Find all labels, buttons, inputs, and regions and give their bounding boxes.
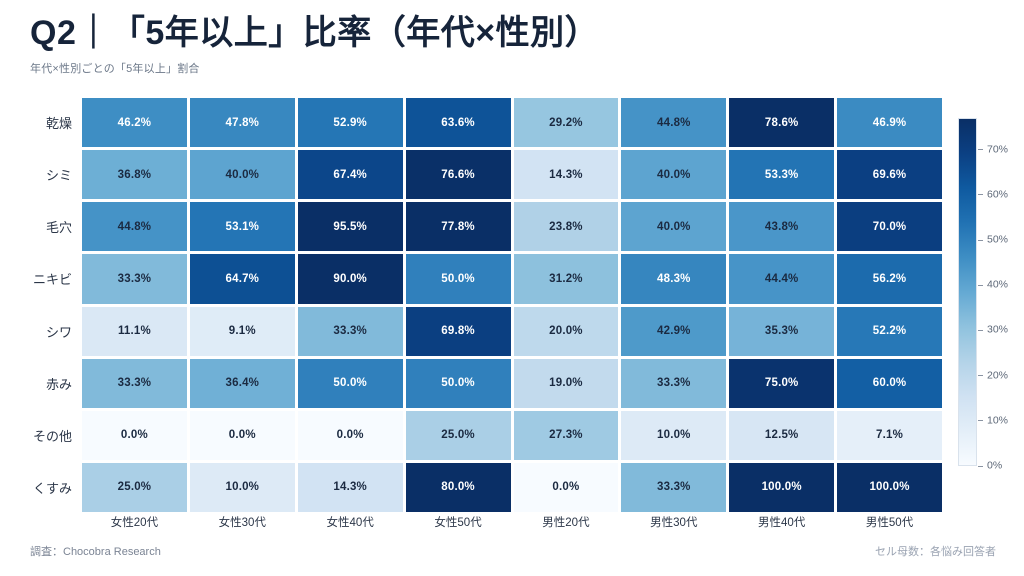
x-axis-label: 女性40代	[298, 514, 403, 530]
heatmap-cell: 43.8%	[729, 202, 834, 251]
page-title: Q2｜「5年以上」比率（年代×性別）	[30, 14, 990, 53]
heatmap-chart: 乾燥シミ毛穴ニキビシワ赤みその他くすみ 46.2%47.8%52.9%63.6%…	[30, 98, 942, 512]
heatmap-cell: 70.0%	[837, 202, 942, 251]
colorbar-tick-label: 70%	[987, 143, 1008, 155]
header: Q2｜「5年以上」比率（年代×性別） 年代×性別ごとの「5年以上」割合	[30, 14, 990, 76]
colorbar-tick-mark	[978, 466, 983, 467]
x-axis-label: 男性20代	[514, 514, 619, 530]
y-axis-label: ニキビ	[30, 254, 80, 303]
heatmap-cell: 50.0%	[406, 359, 511, 408]
heatmap-cell: 69.8%	[406, 307, 511, 356]
heatmap-cell: 100.0%	[837, 463, 942, 512]
heatmap-cell: 44.4%	[729, 254, 834, 303]
heatmap-cell: 33.3%	[82, 359, 187, 408]
y-axis-label: シミ	[30, 150, 80, 199]
colorbar-tick-mark	[978, 375, 983, 376]
heatmap-cell: 33.3%	[621, 359, 726, 408]
heatmap-cell: 95.5%	[298, 202, 403, 251]
y-axis-label: 赤み	[30, 359, 80, 408]
colorbar-legend: 70%60%50%40%30%20%10%0%	[958, 118, 1020, 468]
heatmap-cell: 100.0%	[729, 463, 834, 512]
heatmap-cell: 40.0%	[621, 150, 726, 199]
heatmap-cell: 75.0%	[729, 359, 834, 408]
colorbar-tick-mark	[978, 240, 983, 241]
footer-note: セル母数：各悩み回答者	[875, 543, 996, 559]
heatmap-cell: 52.2%	[837, 307, 942, 356]
colorbar-tick-mark	[978, 149, 983, 150]
y-axis-label: その他	[30, 411, 80, 460]
heatmap-cell: 69.6%	[837, 150, 942, 199]
heatmap-cell: 0.0%	[514, 463, 619, 512]
heatmap-cell: 50.0%	[406, 254, 511, 303]
colorbar-gradient	[958, 118, 977, 466]
heatmap-cell: 33.3%	[82, 254, 187, 303]
heatmap-cell: 25.0%	[82, 463, 187, 512]
y-axis-labels: 乾燥シミ毛穴ニキビシワ赤みその他くすみ	[30, 98, 80, 512]
heatmap-cell: 80.0%	[406, 463, 511, 512]
heatmap-cell: 76.6%	[406, 150, 511, 199]
heatmap-cell: 10.0%	[621, 411, 726, 460]
colorbar-tick-mark	[978, 285, 983, 286]
heatmap-grid: 46.2%47.8%52.9%63.6%29.2%44.8%78.6%46.9%…	[82, 98, 942, 512]
colorbar-tick-mark	[978, 194, 983, 195]
heatmap-cell: 36.8%	[82, 150, 187, 199]
heatmap-cell: 29.2%	[514, 98, 619, 147]
heatmap-cell: 90.0%	[298, 254, 403, 303]
y-axis-label: 毛穴	[30, 202, 80, 251]
heatmap-cell: 40.0%	[621, 202, 726, 251]
y-axis-label: 乾燥	[30, 98, 80, 147]
x-axis-label: 女性30代	[190, 514, 295, 530]
heatmap-cell: 44.8%	[82, 202, 187, 251]
colorbar-tick-label: 0%	[987, 460, 1002, 472]
heatmap-cell: 56.2%	[837, 254, 942, 303]
heatmap-cell: 46.2%	[82, 98, 187, 147]
heatmap-cell: 20.0%	[514, 307, 619, 356]
x-axis-labels: 女性20代女性30代女性40代女性50代男性20代男性30代男性40代男性50代	[82, 514, 942, 530]
heatmap-cell: 36.4%	[190, 359, 295, 408]
heatmap-cell: 53.1%	[190, 202, 295, 251]
colorbar-tick-label: 30%	[987, 324, 1008, 336]
heatmap-cell: 23.8%	[514, 202, 619, 251]
heatmap-cell: 27.3%	[514, 411, 619, 460]
heatmap-cell: 9.1%	[190, 307, 295, 356]
colorbar-tick-label: 50%	[987, 234, 1008, 246]
heatmap-cell: 78.6%	[729, 98, 834, 147]
x-axis-label: 女性20代	[82, 514, 187, 530]
heatmap-cell: 31.2%	[514, 254, 619, 303]
heatmap-cell: 19.0%	[514, 359, 619, 408]
heatmap-cell: 14.3%	[514, 150, 619, 199]
heatmap-cell: 77.8%	[406, 202, 511, 251]
y-axis-label: シワ	[30, 307, 80, 356]
heatmap-cell: 50.0%	[298, 359, 403, 408]
heatmap-cell: 67.4%	[298, 150, 403, 199]
colorbar-tick-label: 40%	[987, 279, 1008, 291]
colorbar-tick-label: 20%	[987, 369, 1008, 381]
heatmap-cell: 42.9%	[621, 307, 726, 356]
colorbar-tick-label: 60%	[987, 188, 1008, 200]
page-subtitle: 年代×性別ごとの「5年以上」割合	[30, 60, 990, 76]
heatmap-cell: 60.0%	[837, 359, 942, 408]
x-axis-label: 男性50代	[837, 514, 942, 530]
heatmap-cell: 33.3%	[298, 307, 403, 356]
heatmap-cell: 10.0%	[190, 463, 295, 512]
heatmap-cell: 0.0%	[298, 411, 403, 460]
colorbar-tick-mark	[978, 330, 983, 331]
heatmap-cell: 0.0%	[190, 411, 295, 460]
heatmap-cell: 47.8%	[190, 98, 295, 147]
heatmap-cell: 52.9%	[298, 98, 403, 147]
y-axis-label: くすみ	[30, 463, 80, 512]
heatmap-cell: 14.3%	[298, 463, 403, 512]
heatmap-cell: 53.3%	[729, 150, 834, 199]
heatmap-cell: 7.1%	[837, 411, 942, 460]
colorbar-tick-label: 10%	[987, 414, 1008, 426]
colorbar-tick-mark	[978, 420, 983, 421]
heatmap-cell: 48.3%	[621, 254, 726, 303]
heatmap-cell: 46.9%	[837, 98, 942, 147]
x-axis-label: 男性40代	[729, 514, 834, 530]
heatmap-cell: 35.3%	[729, 307, 834, 356]
heatmap-cell: 0.0%	[82, 411, 187, 460]
heatmap-cell: 12.5%	[729, 411, 834, 460]
heatmap-cell: 11.1%	[82, 307, 187, 356]
x-axis-label: 女性50代	[406, 514, 511, 530]
footer-source: 調査：Chocobra Research	[30, 543, 161, 559]
x-axis-label: 男性30代	[621, 514, 726, 530]
heatmap-cell: 44.8%	[621, 98, 726, 147]
heatmap-cell: 25.0%	[406, 411, 511, 460]
heatmap-cell: 64.7%	[190, 254, 295, 303]
heatmap-cell: 63.6%	[406, 98, 511, 147]
heatmap-cell: 33.3%	[621, 463, 726, 512]
heatmap-cell: 40.0%	[190, 150, 295, 199]
